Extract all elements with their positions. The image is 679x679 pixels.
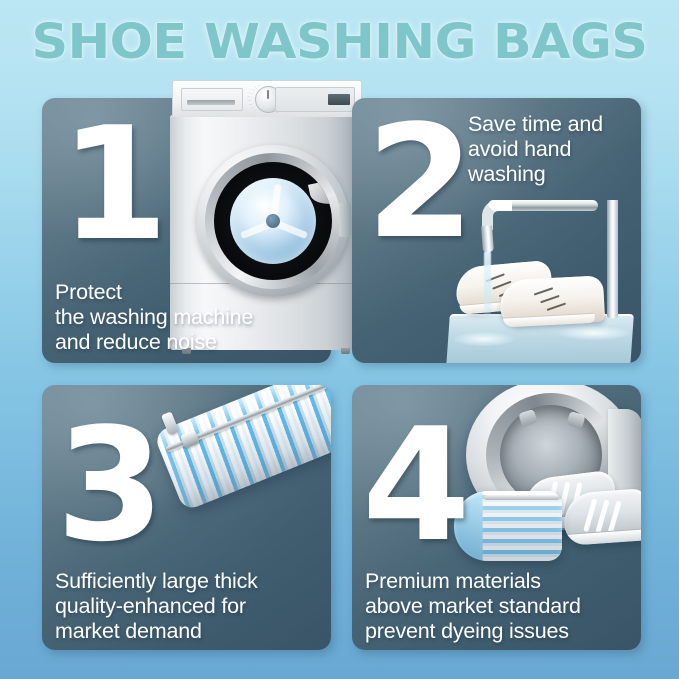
shoe-lace — [540, 295, 560, 303]
shoe-sole — [565, 528, 641, 546]
panel-4-caption: Premium materials above market standard … — [365, 569, 650, 644]
shoe-lace — [547, 303, 567, 311]
water-splash — [454, 332, 514, 346]
detergent-drawer — [181, 88, 243, 111]
washing-machine-door — [197, 145, 349, 297]
shoe-stripe — [583, 498, 597, 532]
door-glass — [214, 162, 332, 280]
step-number-1: 1 — [60, 106, 169, 262]
step-number-3: 3 — [56, 407, 165, 563]
white-sneaker — [499, 275, 605, 326]
control-display — [275, 87, 355, 112]
feature-panel-3: 3 Sufficiently large thick quality-enhan… — [42, 385, 331, 650]
drum-hub — [266, 214, 280, 228]
mesh-bag-body — [153, 385, 331, 512]
feature-panel-1: 1 Protect the washing machine and reduce… — [42, 98, 331, 363]
panel-2-caption: Save time and avoid hand washing — [468, 112, 640, 187]
faucet-washing-sneakers-photo — [448, 186, 641, 363]
step-number-4: 4 — [362, 407, 471, 563]
panel-1-caption: Protect the washing machine and reduce n… — [55, 280, 335, 355]
drum-lug — [566, 411, 585, 429]
water-stream — [484, 250, 491, 316]
feature-panel-4: 4 Premium materials above market standar… — [352, 385, 641, 650]
shoe-stripe — [595, 499, 609, 533]
shoe-lace — [534, 287, 554, 295]
feature-panel-2: 2 Save time and avoid hand washing — [352, 98, 641, 363]
shoe-washing-bags-infographic: SHOE WASHING BAGS — [0, 0, 679, 679]
step-number-2: 2 — [366, 104, 475, 260]
washing-machine-control-panel — [172, 80, 362, 117]
striped-mesh-laundry-bag-photo — [153, 385, 331, 512]
washing-machine-foot-right — [341, 348, 350, 354]
drum-interior — [230, 178, 316, 264]
mesh-bag-zipper — [484, 495, 560, 500]
washer-drum-bag-sneakers-photo — [448, 385, 641, 587]
faucet-nozzle — [481, 226, 494, 253]
panel-3-caption: Sufficiently large thick quality-enhance… — [55, 569, 337, 644]
door-hinge — [339, 203, 351, 237]
drum-lug — [518, 409, 538, 427]
water-splash — [558, 326, 630, 340]
page-title: SHOE WASHING BAGS — [0, 16, 679, 68]
faucet-riser — [607, 200, 618, 318]
